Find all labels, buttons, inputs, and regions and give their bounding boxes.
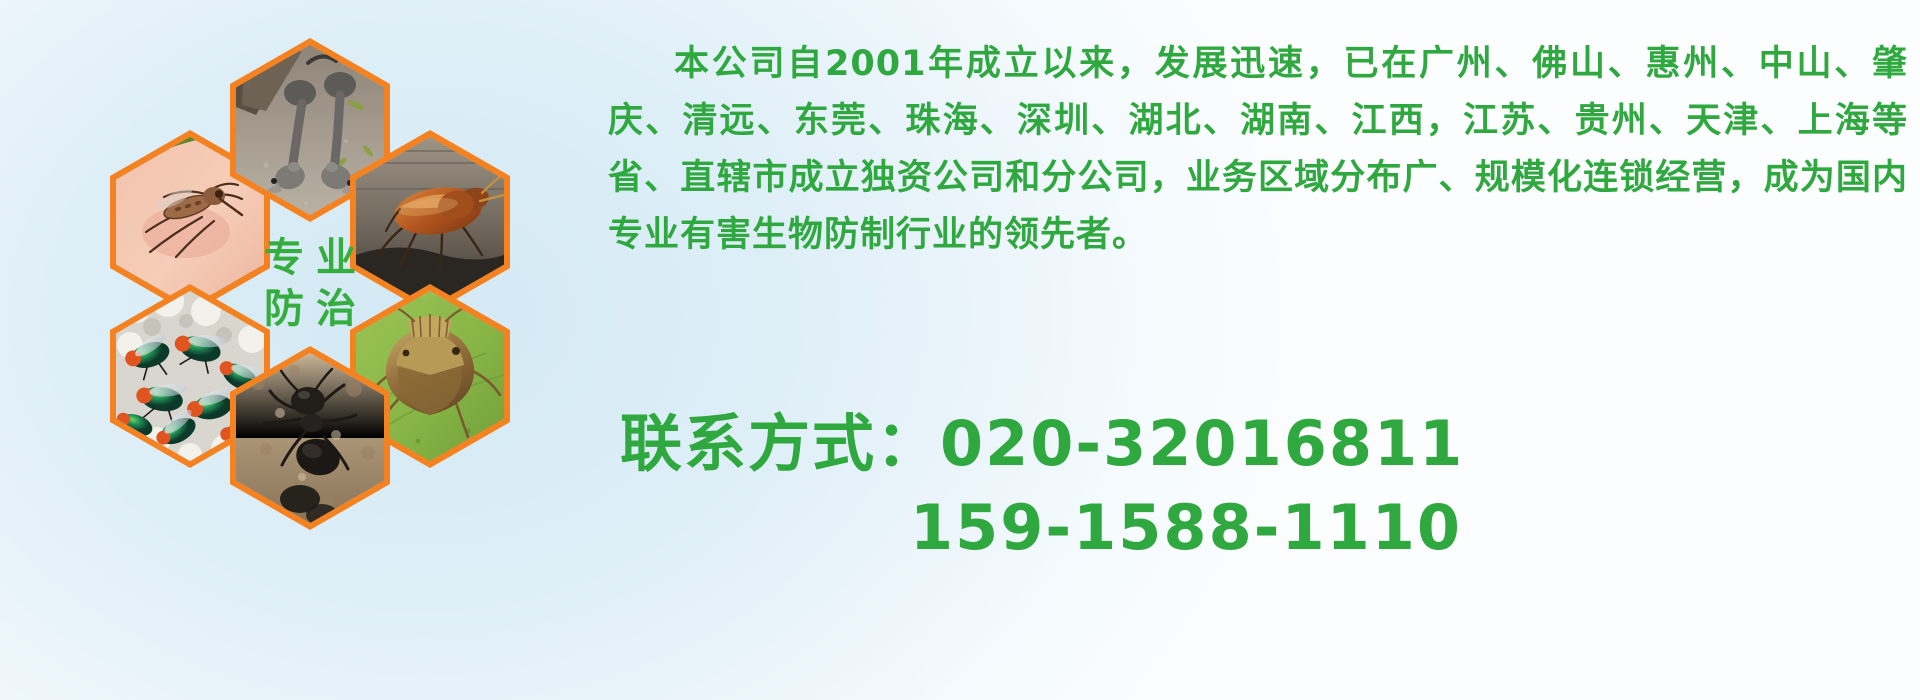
badge-line-1: 专业 [252, 236, 368, 281]
company-intro: 本公司自2001年成立以来，发展迅速，已在广州、佛山、惠州、中山、肇庆、清远、东… [608, 36, 1908, 264]
intro-paragraph: 本公司自2001年成立以来，发展迅速，已在广州、佛山、惠州、中山、肇庆、清远、东… [608, 36, 1908, 264]
promo-banner: 专业 防治 [0, 0, 1920, 700]
ant-photo [236, 353, 384, 523]
contact-primary-phone[interactable]: 联系方式：020-32016811 [620, 402, 1920, 486]
badge-line-2: 防治 [252, 287, 368, 332]
ant-icon [236, 353, 384, 523]
contact-block: 联系方式：020-32016811 159-1588-1110 [620, 402, 1920, 570]
contact-secondary-phone[interactable]: 159-1588-1110 [620, 486, 1920, 570]
hexagon-photo-cluster: 专业 防治 [100, 8, 600, 568]
